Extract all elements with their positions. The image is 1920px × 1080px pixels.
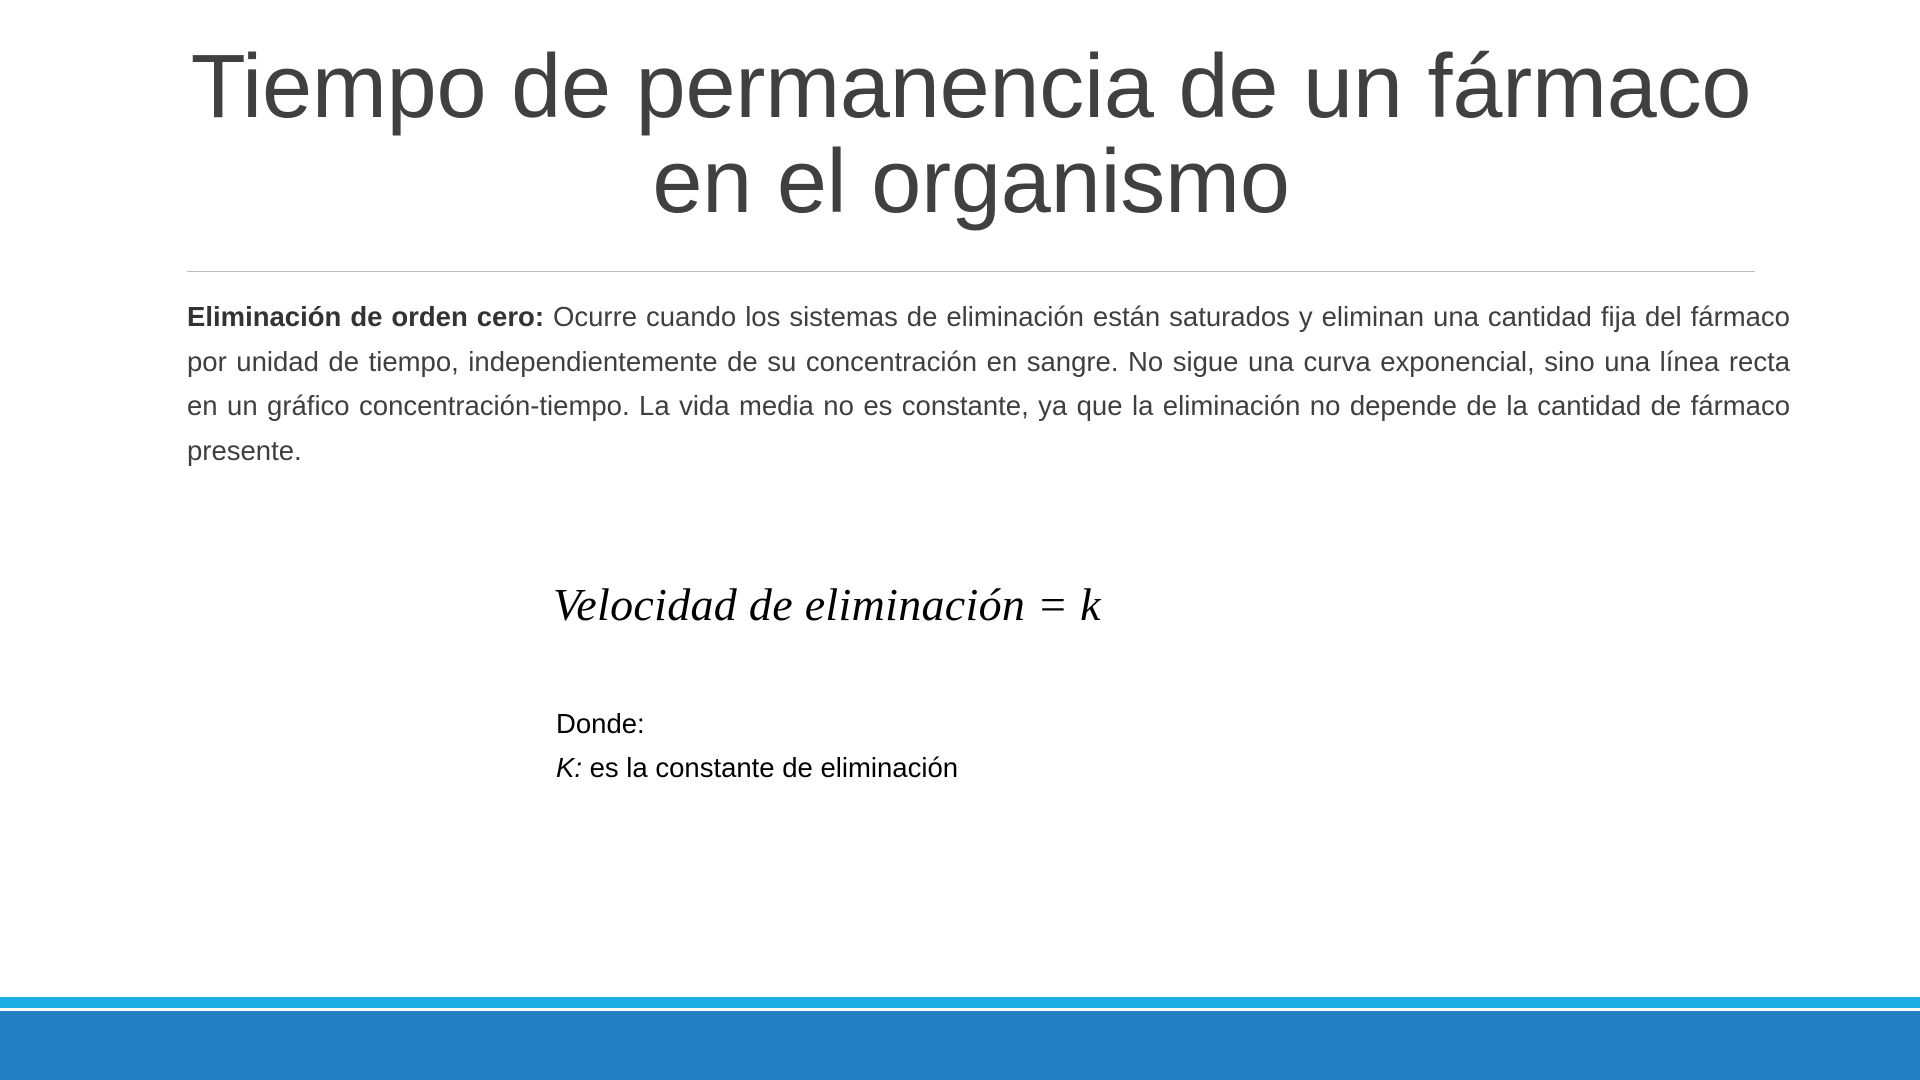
where-symbol: K:: [556, 752, 582, 783]
body-paragraph: Eliminación de orden cero: Ocurre cuando…: [187, 295, 1790, 473]
footer-accent-bar: [0, 997, 1920, 1008]
where-definition: es la constante de eliminación: [582, 752, 958, 783]
where-label: Donde:: [556, 702, 958, 746]
page-title: Tiempo de permanencia de un fármaco en e…: [187, 40, 1755, 231]
slide-canvas: Tiempo de permanencia de un fármaco en e…: [0, 0, 1920, 1080]
title-divider-rule: [187, 271, 1755, 272]
body-lead-label: Eliminación de orden cero:: [187, 301, 544, 332]
equation-velocidad-de-eliminacion: Velocidad de eliminación = k: [553, 582, 1101, 628]
where-block: Donde: K: es la constante de eliminación: [556, 702, 958, 790]
footer-main-bar: [0, 1011, 1920, 1080]
title-block: Tiempo de permanencia de un fármaco en e…: [187, 40, 1755, 231]
where-definition-line: K: es la constante de eliminación: [556, 746, 958, 790]
